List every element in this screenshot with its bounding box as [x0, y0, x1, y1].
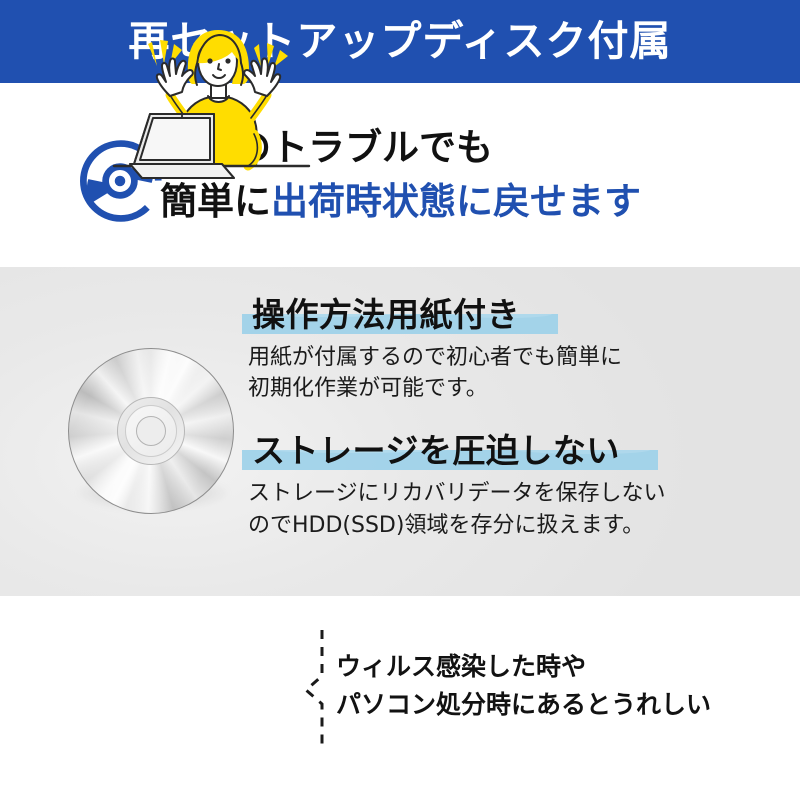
disc-center-hole: [136, 416, 166, 446]
feature-heading-wrap: 操作方法用紙付き: [248, 296, 530, 335]
feature-heading-wrap: ストレージを圧迫しない: [248, 432, 630, 471]
bottom-line-1: ウィルス感染した時や: [336, 648, 786, 686]
feature-body-line-1: ストレージにリカバリデータを保存しない: [248, 478, 768, 509]
feature-body-line-2: 初期化作業が可能です。: [248, 373, 768, 404]
cd-dvd-disc-photo: [68, 348, 234, 514]
feature-item: ストレージを圧迫しない ストレージにリカバリデータを保存しない のでHDD(SS…: [248, 432, 768, 540]
feature-list: 操作方法用紙付き 用紙が付属するので初心者でも簡単に 初期化作業が可能です。 ス…: [248, 296, 768, 541]
feature-heading: 操作方法用紙付き: [252, 296, 520, 335]
dashed-speech-bracket: [300, 628, 330, 752]
happy-woman-at-laptop-illustration: [104, 14, 334, 194]
bottom-line-2: パソコン処分時にあるとうれしい: [336, 686, 786, 724]
feature-body-line-1: 用紙が付属するので初心者でも簡単に: [248, 342, 768, 373]
feature-body-line-2: のでHDD(SSD)領域を存分に扱えます。: [248, 510, 768, 541]
feature-item: 操作方法用紙付き 用紙が付属するので初心者でも簡単に 初期化作業が可能です。: [248, 296, 768, 404]
promo-graphic-root: 再セットアップディスク付属 万一のトラブルでも: [0, 0, 800, 800]
feature-heading: ストレージを圧迫しない: [252, 432, 620, 471]
bottom-copy: ウィルス感染した時や パソコン処分時にあるとうれしい: [336, 648, 786, 724]
